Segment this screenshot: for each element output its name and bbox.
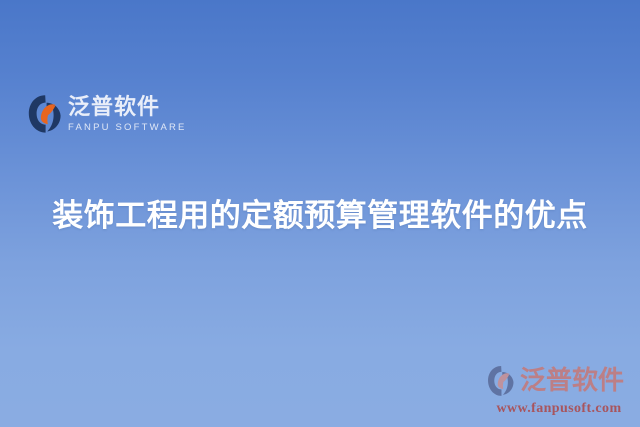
watermark-url: www.fanpusoft.com (486, 400, 632, 417)
promo-banner: 泛普软件 FANPU SOFTWARE 装饰工程用的定额预算管理软件的优点 泛普… (0, 0, 640, 427)
watermark-logo-row: 泛普软件 (486, 363, 632, 399)
fanpu-logo-icon (28, 94, 62, 134)
fanpu-logo-icon (486, 365, 516, 397)
brand-name-cn: 泛普软件 (68, 96, 187, 120)
page-title: 装饰工程用的定额预算管理软件的优点 (0, 194, 640, 238)
watermark: 泛普软件 www.fanpusoft.com (486, 363, 632, 419)
brand-wordmark: 泛普软件 FANPU SOFTWARE (68, 94, 187, 134)
watermark-name-cn: 泛普软件 (520, 366, 624, 396)
brand-logo: 泛普软件 FANPU SOFTWARE (28, 94, 187, 134)
brand-name-en: FANPU SOFTWARE (68, 122, 187, 134)
